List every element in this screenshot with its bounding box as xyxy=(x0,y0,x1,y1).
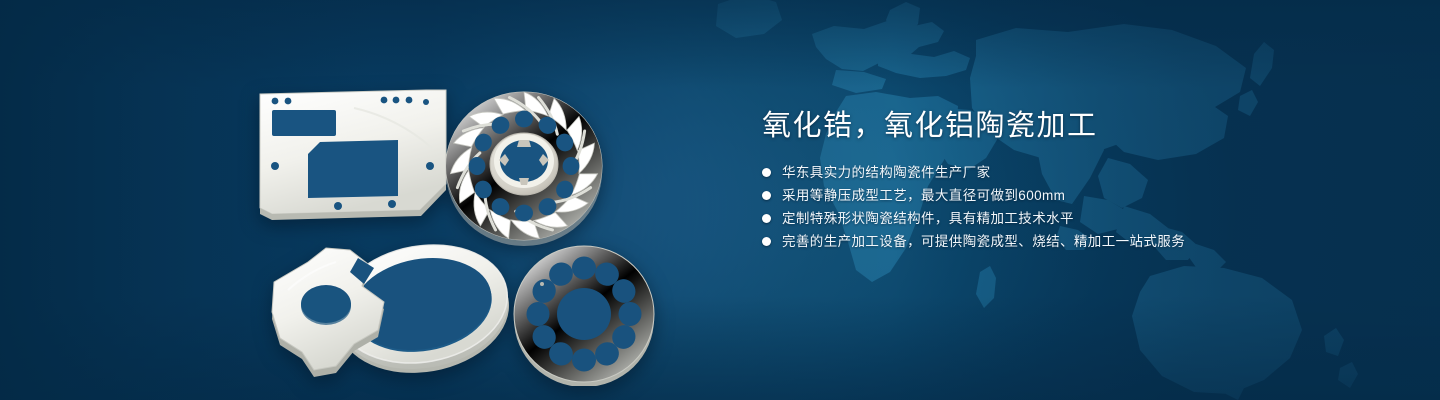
ceramic-plate-part xyxy=(260,90,446,220)
feature-item: 采用等静压成型工艺，最大直径可做到600mm xyxy=(762,187,1362,204)
banner-title: 氧化锆，氧化铝陶瓷加工 xyxy=(762,108,1362,144)
feature-list: 华东具实力的结构陶瓷件生产厂家 采用等静压成型工艺，最大直径可做到600mm 定… xyxy=(762,164,1362,250)
bullet-dot-icon xyxy=(762,214,771,223)
feature-item: 定制特殊形状陶瓷结构件，具有精加工技术水平 xyxy=(762,210,1362,227)
ceramic-products-image xyxy=(236,36,706,386)
bullet-dot-icon xyxy=(762,237,771,246)
feature-item: 华东具实力的结构陶瓷件生产厂家 xyxy=(762,164,1362,181)
feature-text: 华东具实力的结构陶瓷件生产厂家 xyxy=(782,164,991,181)
feature-text: 定制特殊形状陶瓷结构件，具有精加工技术水平 xyxy=(782,210,1074,227)
ceramic-impeller-part xyxy=(446,89,602,246)
promo-banner: 氧化锆，氧化铝陶瓷加工 华东具实力的结构陶瓷件生产厂家 采用等静压成型工艺，最大… xyxy=(0,0,1440,400)
banner-copy: 氧化锆，氧化铝陶瓷加工 华东具实力的结构陶瓷件生产厂家 采用等静压成型工艺，最大… xyxy=(762,108,1362,256)
ceramic-perforated-disc-part xyxy=(514,246,654,386)
feature-text: 采用等静压成型工艺，最大直径可做到600mm xyxy=(782,187,1065,204)
bullet-dot-icon xyxy=(762,168,771,177)
feature-item: 完善的生产加工设备，可提供陶瓷成型、烧结、精加工一站式服务 xyxy=(762,233,1362,250)
feature-text: 完善的生产加工设备，可提供陶瓷成型、烧结、精加工一站式服务 xyxy=(782,233,1185,250)
bullet-dot-icon xyxy=(762,191,771,200)
